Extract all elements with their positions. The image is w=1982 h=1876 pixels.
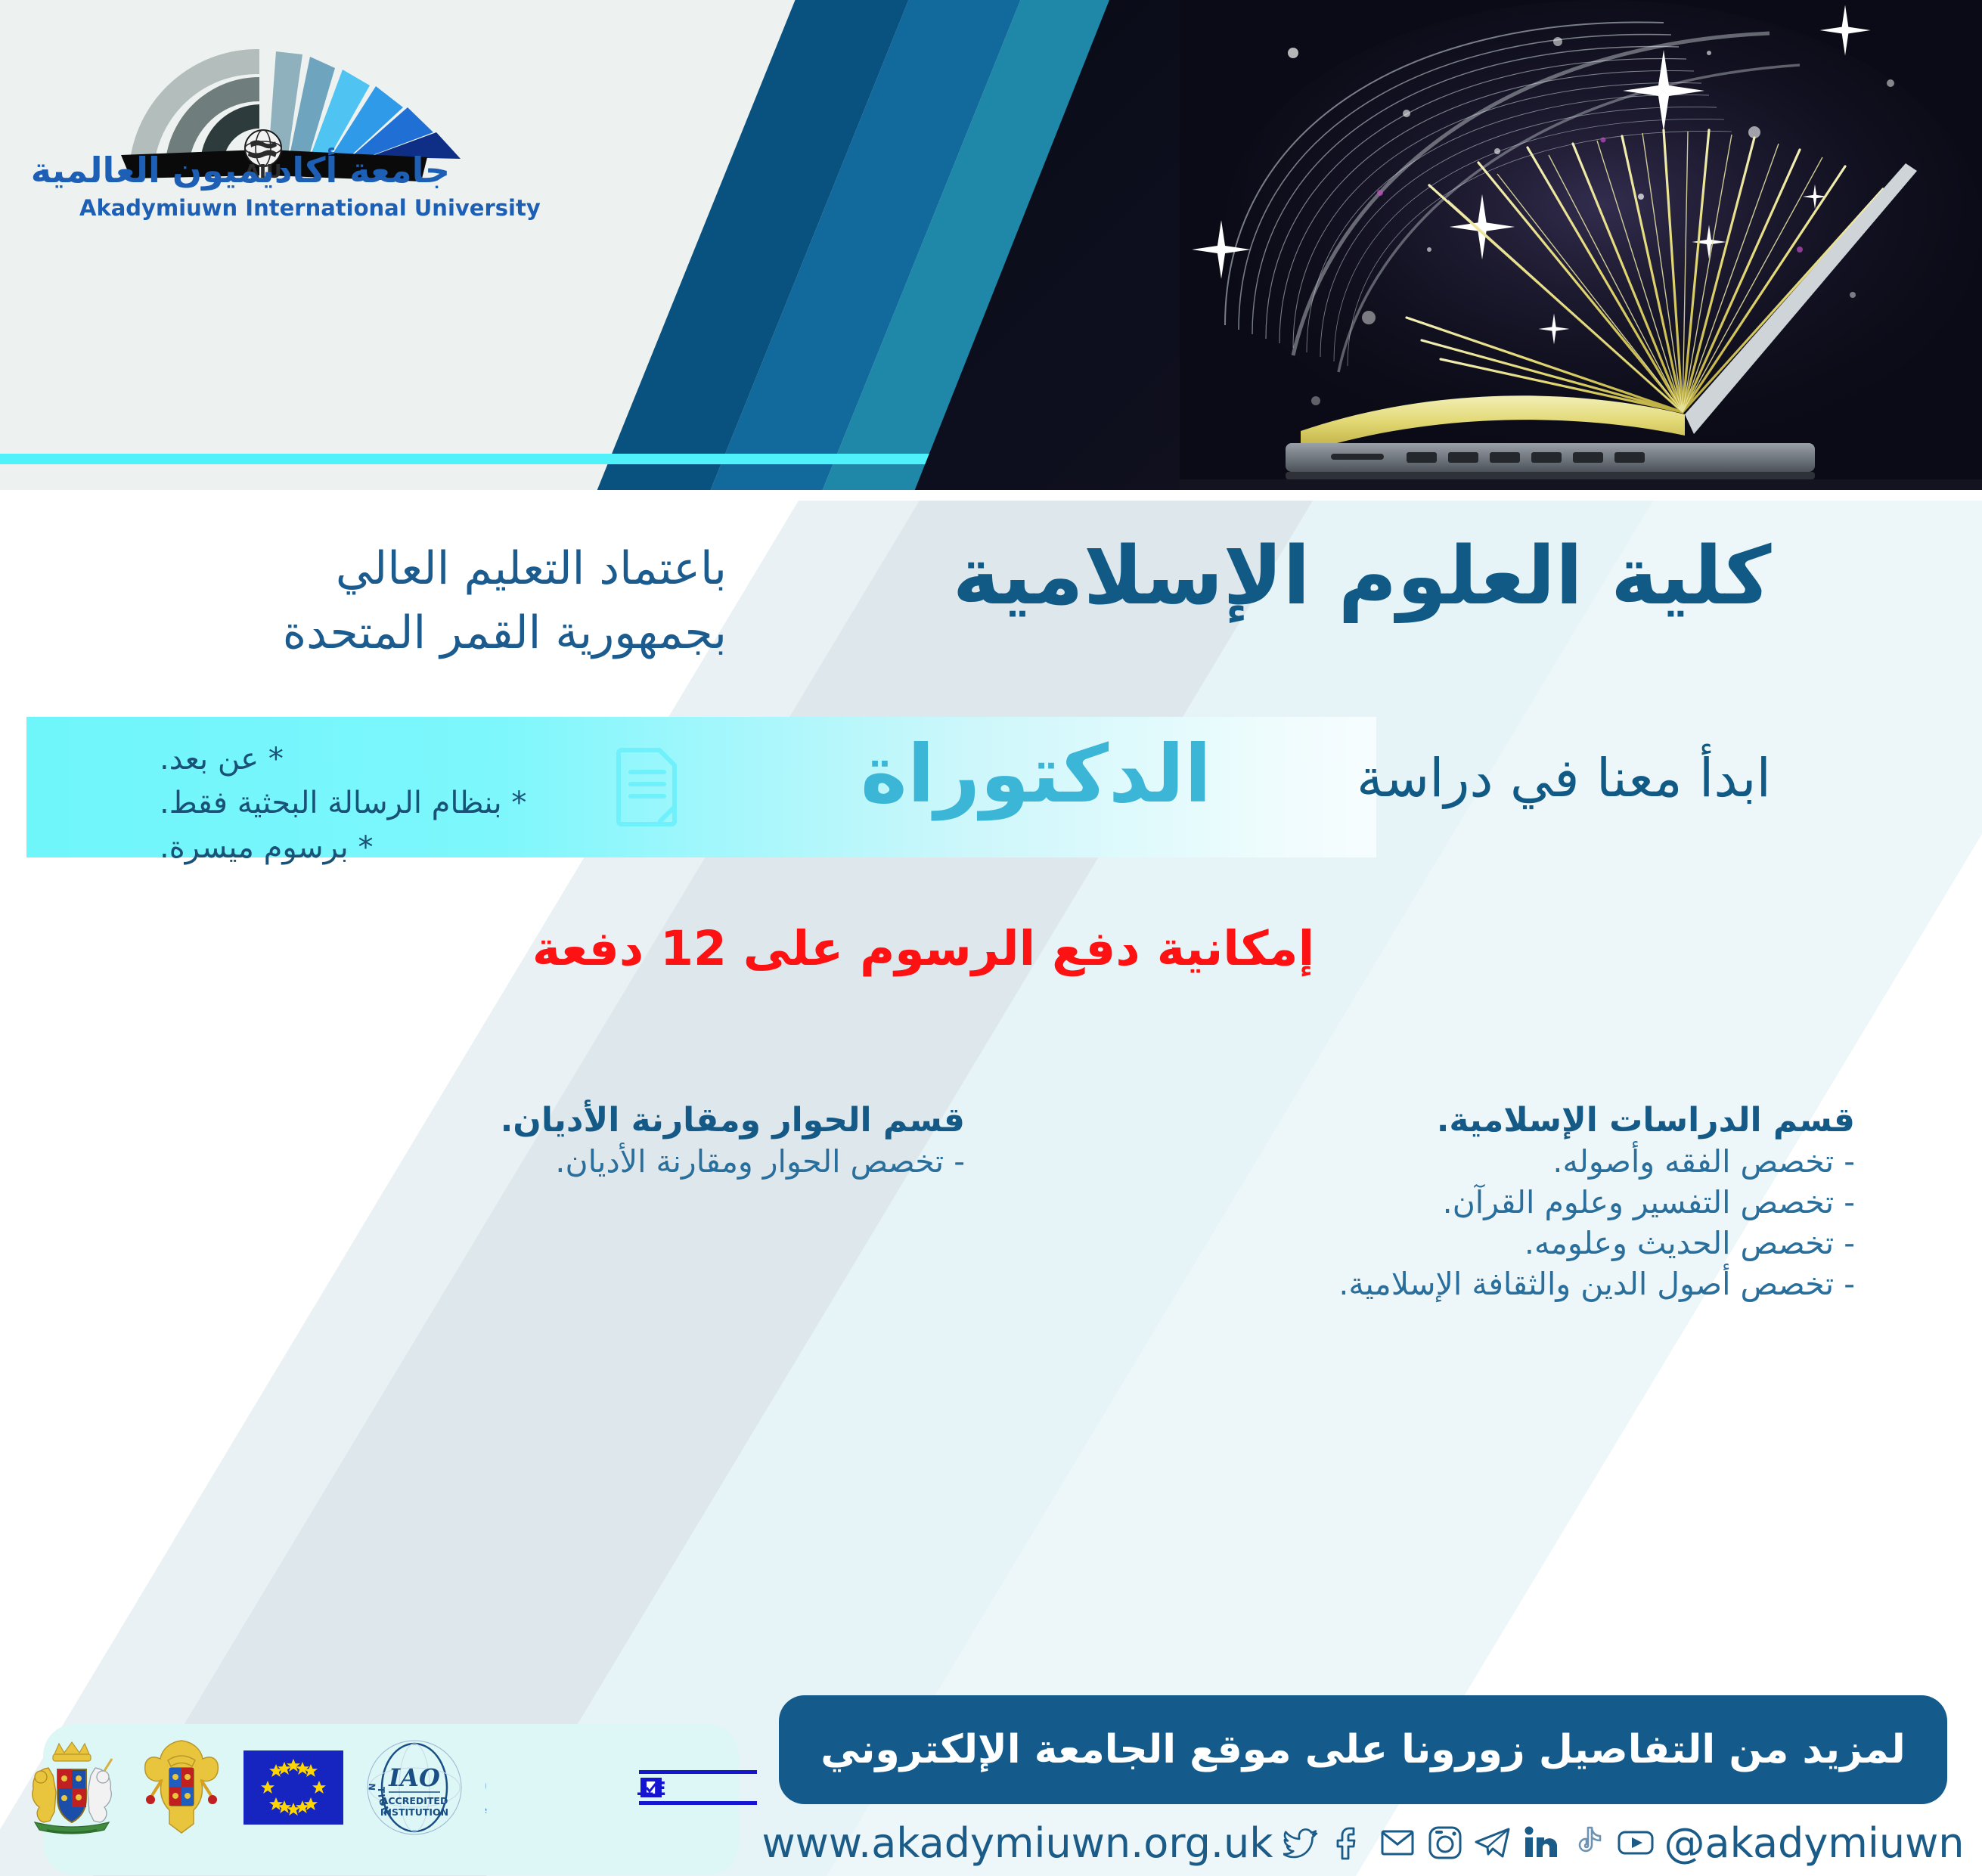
features-list: * عن بعد. * بنظام الرسالة البحثية فقط. *… xyxy=(160,737,681,870)
department-item: - تخصص الفقه وأصوله. xyxy=(963,1141,1855,1182)
feature-item: * برسوم ميسرة. xyxy=(160,826,681,870)
accreditation-text: باعتماد التعليم العالي بجمهورية القمر ال… xyxy=(144,537,727,665)
svg-text:ACCREDITED: ACCREDITED xyxy=(380,1795,448,1806)
header-banner: AIU جامعة أكاديميون العالمية Akadymiuwn … xyxy=(0,0,1982,499)
accreditation-line-2: بجمهورية القمر المتحدة xyxy=(144,601,727,665)
department-title: قسم الحوار ومقارنة الأديان. xyxy=(209,1100,965,1141)
feature-item: * بنظام الرسالة البحثية فقط. xyxy=(160,781,681,825)
start-cta-text: ابدأ معنا في دراسة xyxy=(1292,747,1836,809)
department-title: قسم الدراسات الإسلامية. xyxy=(963,1100,1855,1141)
apostille-badge: APOSTILLE xyxy=(637,1760,758,1819)
svg-text:INTERNATIONAL ACCREDITATION: INTERNATIONAL ACCREDITATION xyxy=(363,1738,378,1791)
uk-royal-coat-of-arms-badge xyxy=(24,1738,119,1840)
ico-badge: ico. Information Commissioner's Office xyxy=(485,1751,618,1827)
department-item: - تخصص الحوار ومقارنة الأديان. xyxy=(209,1141,965,1182)
document-icon xyxy=(616,745,680,826)
logo-name-arabic: جامعة أكاديميون العالمية xyxy=(95,150,450,191)
romania-coat-of-arms-badge xyxy=(139,1738,224,1840)
svg-text:INSTITUTION: INSTITUTION xyxy=(380,1806,448,1818)
instagram-icon[interactable] xyxy=(1426,1824,1464,1862)
hero-book-image xyxy=(1180,0,1982,499)
installments-note: إمكانية دفع الرسوم على 12 دفعة xyxy=(470,921,1377,976)
youtube-icon[interactable] xyxy=(1617,1824,1655,1862)
accreditation-badges-row: APOSTILLE ico. Information Commissioner'… xyxy=(43,1739,739,1839)
eu-flag-badge xyxy=(243,1750,343,1828)
twitter-icon[interactable] xyxy=(1283,1824,1321,1862)
website-url[interactable]: www.akadymiuwn.org.uk xyxy=(761,1819,1273,1867)
feature-item: * عن بعد. xyxy=(160,737,681,781)
accreditation-line-1: باعتماد التعليم العالي xyxy=(144,537,727,601)
tiktok-icon[interactable] xyxy=(1569,1824,1607,1862)
svg-text:ico.: ico. xyxy=(485,1754,488,1809)
contact-row: www.akadymiuwn.org.uk @akadymiuwn xyxy=(779,1812,1947,1874)
svg-text:Information Commissioner's Off: Information Commissioner's Office xyxy=(485,1805,487,1816)
social-handle[interactable]: @akadymiuwn xyxy=(1664,1819,1965,1867)
department-item: - تخصص التفسير وعلوم القرآن. xyxy=(963,1182,1855,1223)
email-icon[interactable] xyxy=(1379,1824,1416,1862)
linkedin-icon[interactable] xyxy=(1521,1824,1559,1862)
iao-badge: INTERNATIONAL ACCREDITATION ORGANIZATION… xyxy=(363,1738,466,1840)
department-islamic-studies: قسم الدراسات الإسلامية. - تخصص الفقه وأص… xyxy=(963,1100,1855,1304)
aiu-logo: AIU جامعة أكاديميون العالمية Akadymiuwn … xyxy=(49,23,473,219)
department-item: - تخصص أصول الدين والثقافة الإسلامية. xyxy=(963,1264,1855,1304)
website-cta-banner[interactable]: لمزيد من التفاصيل زورونا على موقع الجامع… xyxy=(779,1695,1947,1804)
svg-text:IAO: IAO xyxy=(388,1763,440,1792)
degree-label: الدكتوراة xyxy=(855,728,1217,820)
department-item: - تخصص الحديث وعلومه. xyxy=(963,1223,1855,1264)
logo-name-english: Akadymiuwn International University xyxy=(79,195,465,221)
svg-text:APOSTILLE: APOSTILLE xyxy=(637,1778,666,1800)
header-bottom-edge xyxy=(0,490,1982,499)
department-dialogue-comparative-religion: قسم الحوار ومقارنة الأديان. - تخصص الحوا… xyxy=(209,1100,965,1182)
telegram-icon[interactable] xyxy=(1474,1824,1512,1862)
facebook-icon[interactable] xyxy=(1331,1824,1369,1862)
page-title: كلية العلوم الإسلامية xyxy=(882,529,1842,622)
website-cta-text: لمزيد من التفاصيل زورونا على موقع الجامع… xyxy=(820,1727,1906,1772)
